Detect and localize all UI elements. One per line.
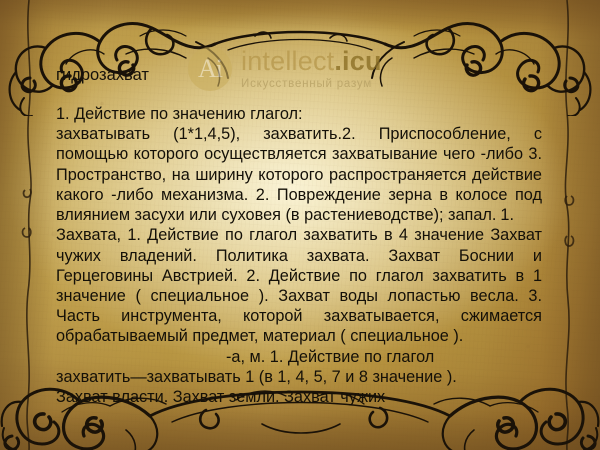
definition-paragraph-2: захватывать (1*1,4,5), захватить.2. Прис… [56, 124, 542, 225]
definition-paragraph-5: захватить—захватывать 1 (в 1, 4, 5, 7 и … [56, 367, 542, 387]
left-edge-rule [16, 0, 42, 450]
slide-content: гидрозахват 1. Действие по значению глаг… [56, 0, 556, 450]
definition-paragraph-4: -а, м. 1. Действие по глагол [56, 347, 542, 367]
definition-paragraph-1: 1. Действие по значению глагол: [56, 104, 542, 124]
definition-paragraph-3: Захвата, 1. Действие по глагол захватить… [56, 225, 542, 346]
definition-paragraph-6: Захват власти. Захват земли. Захват чужи… [56, 387, 542, 407]
slide-canvas: Ai intellect.icu Искусственный разум гид… [0, 0, 600, 450]
entry-definition: 1. Действие по значению глагол: захватыв… [56, 104, 542, 407]
right-edge-rule [554, 0, 580, 450]
entry-headword: гидрозахват [56, 66, 149, 85]
